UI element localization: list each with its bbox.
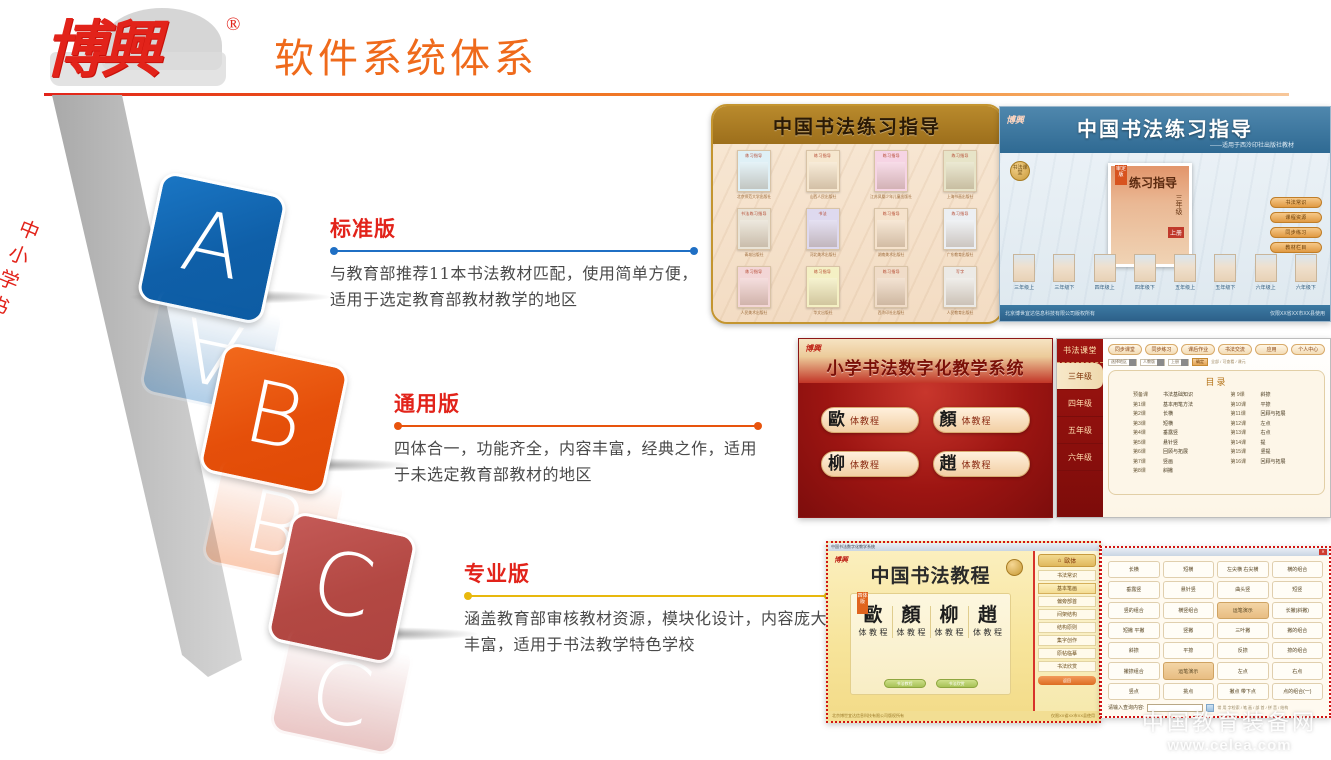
tutorial-title: 中国书法教程 <box>828 551 1033 588</box>
guide-grade-item[interactable]: 六年级下 <box>1295 254 1317 291</box>
toc-card-title: 目录 <box>1115 375 1318 388</box>
guide-grade-item[interactable]: 四年级下 <box>1134 254 1156 291</box>
style-glyph: 趙 <box>940 456 957 473</box>
toc-filter-volume[interactable]: 上册 <box>1168 359 1189 366</box>
toc-lesson-row[interactable]: 第10课平捺 <box>1231 401 1319 408</box>
toc-lesson-number: 第16课 <box>1231 458 1255 465</box>
guide-grade-label: 四年级上 <box>1094 284 1116 291</box>
toc-lesson-name: 竖画 <box>1163 458 1173 465</box>
system-home-style-button[interactable]: 趙体教程 <box>933 451 1031 477</box>
book-cover-art <box>740 220 768 247</box>
stroke-cell[interactable]: 短竖 <box>1272 581 1324 598</box>
book-publisher-label: 湖南美术出版社 <box>878 252 905 258</box>
guide-grade-thumb <box>1255 254 1277 282</box>
toc-lesson-number: 第1课 <box>1133 401 1157 408</box>
book-publisher-label: 山西人民出版社 <box>809 194 836 200</box>
book-cover-title: 书法练习指导 <box>738 211 770 217</box>
chevron-down-icon <box>1129 359 1136 366</box>
guide-grade-item[interactable]: 六年级上 <box>1255 254 1277 291</box>
guide-side-button[interactable]: 教材栏目 <box>1270 242 1322 253</box>
practice-guide-logo: 博興 <box>1006 113 1024 126</box>
tutorial-style-glyph: 顏 <box>893 606 930 626</box>
practice-guide-header: 博興 中国书法练习指导 ——适用于西泠印社出版社教材 <box>1000 107 1330 153</box>
book-cell[interactable]: 练习指导华文出版社 <box>790 266 856 322</box>
toc-lesson-row[interactable]: 第12课左点 <box>1231 420 1319 427</box>
screenshot-table-of-contents[interactable]: 书法课堂 三年级四年级五年级六年级 同步课堂同步练习课后作业书法交流应用个人中心… <box>1056 338 1331 518</box>
book-catalog-header: 中国书法练习指导 <box>713 106 1001 144</box>
brand-logo: 博興 ® <box>44 6 234 92</box>
close-icon[interactable]: ✕ <box>1319 549 1327 555</box>
toc-lesson-number: 预备课 <box>1133 391 1157 398</box>
toc-lesson-number: 第2课 <box>1133 410 1157 417</box>
tutorial-style-label: 体 教 程 <box>969 628 1007 638</box>
book-cover-art <box>740 278 768 305</box>
toc-lesson-name: 斜撇 <box>1163 467 1173 474</box>
toc-lesson-number: 第7课 <box>1133 458 1157 465</box>
book-cover-art <box>946 162 974 189</box>
stroke-cell[interactable]: 三叶撇 <box>1217 622 1269 639</box>
book-cover-title: 练习指导 <box>944 153 976 159</box>
system-home-header: 博興 小学书法数字化教学系统 <box>799 339 1052 383</box>
toc-lesson-number: 第10课 <box>1231 401 1255 408</box>
tutorial-style-item[interactable]: 顏体 教 程 <box>893 606 931 638</box>
tutorial-style-glyph: 趙 <box>969 606 1007 626</box>
book-cell[interactable]: 书法练习指导青岛出版社 <box>721 208 787 264</box>
guide-grade-item[interactable]: 五年级上 <box>1174 254 1196 291</box>
book-cover[interactable]: 练习指导 <box>874 150 908 192</box>
callout-standard-rule <box>330 246 698 256</box>
tutorial-menu-item[interactable]: 书法常识 <box>1038 570 1096 581</box>
book-cover-art <box>877 278 905 305</box>
system-home-button-grid: 歐体教程顏体教程柳体教程趙体教程 <box>799 383 1052 477</box>
toc-lesson-row[interactable]: 第11课回顾与拓展 <box>1231 410 1319 417</box>
guide-side-button[interactable]: 课程资源 <box>1270 212 1322 223</box>
tutorial-menu-item[interactable]: 原帖临摹 <box>1038 648 1096 659</box>
toc-lesson-row[interactable]: 第13课右点 <box>1231 429 1319 436</box>
tutorial-style-label: 体 教 程 <box>893 628 930 638</box>
callout-general: 通用版 四体合一，功能齐全，内容丰富，经典之作，适用于未选定教育部教材的地区 <box>394 388 762 489</box>
toc-lesson-row[interactable]: 第16课回顾与拓展 <box>1231 458 1319 465</box>
toc-grade-item[interactable]: 六年级 <box>1057 444 1103 471</box>
tutorial-menu-item[interactable]: 基本笔画 <box>1038 583 1096 594</box>
screenshot-system-home[interactable]: 博興 小学书法数字化教学系统 歐体教程顏体教程柳体教程趙体教程 <box>798 338 1053 518</box>
book-cell[interactable]: 练习指导上海书画出版社 <box>927 150 993 206</box>
practice-guide-grade-list: 三年级上三年级下四年级上四年级下五年级上五年级下六年级上六年级下 <box>1004 254 1326 291</box>
tutorial-main-area: 博興 中国书法教程 四体版 歐体 教 程顏体 教 程柳体 教 程趙体 教 程 书… <box>828 551 1033 711</box>
book-cover[interactable]: 练习指导 <box>737 150 771 192</box>
callout-general-version: 通用版 <box>394 388 762 418</box>
stroke-cell[interactable]: 撇的组合 <box>1272 622 1324 639</box>
guide-side-button[interactable]: 书法常识 <box>1270 197 1322 208</box>
callout-professional-description: 涵盖教育部审核教材资源，模块化设计，内容庞大丰富，适用于书法教学特色学校 <box>464 606 832 659</box>
toc-lesson-name: 斜捺 <box>1261 391 1271 398</box>
stroke-cell[interactable]: 运笔演示 <box>1217 602 1269 619</box>
tutorial-window-title: 中国书法数字化教学系统 <box>828 543 1099 551</box>
style-label: 体教程 <box>850 458 880 471</box>
system-home-logo: 博興 <box>805 343 821 354</box>
tutorial-back-button[interactable]: 返回 <box>1038 676 1096 685</box>
stroke-cell[interactable]: 竖的组合 <box>1108 602 1160 619</box>
system-home-style-button[interactable]: 顏体教程 <box>933 407 1031 433</box>
book-cover-art <box>809 278 837 305</box>
tutorial-logo: 博興 <box>834 555 848 565</box>
practice-guide-badge: 书法课堂 <box>1010 161 1030 181</box>
toc-lesson-name: 书法基础知识 <box>1163 391 1193 398</box>
book-cover-art <box>946 220 974 247</box>
tutorial-ribbon: 四体版 <box>857 592 868 614</box>
tutorial-sidebar-title: 歐体 <box>1064 556 1076 565</box>
practice-guide-title: 中国书法练习指导 <box>1077 113 1253 142</box>
stroke-index-grid: 长横短横左尖横 右尖横横的组合垂露竖悬针竖曲头竖短竖竖的组合横竖组合运笔演示长撇… <box>1102 556 1329 702</box>
toc-lesson-number: 第3课 <box>1133 420 1157 427</box>
stroke-index-titlebar: ✕ <box>1102 548 1329 556</box>
book-cover-title: 练习指导 <box>807 153 839 159</box>
toc-grade-item[interactable]: 三年级 <box>1057 363 1103 390</box>
book-publisher-label: 人民美术出版社 <box>741 310 768 316</box>
toc-lesson-number: 第4课 <box>1133 429 1157 436</box>
guide-grade-item[interactable]: 五年级下 <box>1214 254 1236 291</box>
stroke-cell[interactable]: 撇捺组合 <box>1108 662 1160 679</box>
toc-filter-region[interactable]: 选择地区 <box>1108 359 1137 366</box>
stroke-cell[interactable]: 点的组合(一) <box>1272 683 1324 700</box>
stroke-cell[interactable]: 短横 <box>1163 561 1215 578</box>
toc-sidebar: 书法课堂 三年级四年级五年级六年级 <box>1057 339 1103 517</box>
toc-filter-volume-label: 上册 <box>1169 359 1181 365</box>
tutorial-pill-button[interactable]: 书法欣赏 <box>936 679 978 688</box>
cover-ribbon: 审定版 <box>1115 165 1127 185</box>
stroke-cell[interactable]: 平捺 <box>1163 642 1215 659</box>
tutorial-menu-item[interactable]: 集字创作 <box>1038 635 1096 646</box>
screenshot-stroke-index[interactable]: ✕ 长横短横左尖横 右尖横横的组合垂露竖悬针竖曲头竖短竖竖的组合横竖组合运笔演示… <box>1100 546 1331 718</box>
book-cell[interactable]: 练习指导湖南美术出版社 <box>859 208 925 264</box>
callout-professional-version: 专业版 <box>464 558 832 588</box>
callout-professional-rule <box>464 591 832 601</box>
tutorial-menu-item[interactable]: 间架结构 <box>1038 609 1096 620</box>
tutorial-menu-item[interactable]: 偏旁部首 <box>1038 596 1096 607</box>
book-cell[interactable]: 练习指导广东教育出版社 <box>927 208 993 264</box>
style-label: 体教程 <box>962 414 992 427</box>
screenshot-calligraphy-tutorial[interactable]: 中国书法数字化教学系统 博興 中国书法教程 四体版 歐体 教 程顏体 教 程柳体… <box>826 541 1101 723</box>
toc-lesson-name: 回顾与拓展 <box>1261 410 1286 417</box>
slide-canvas: 博興 ® 软件系统体系 中小学书法数字化教学系统 A A B B <box>0 0 1331 760</box>
system-home-title: 小学书法数字化教学系统 <box>827 354 1025 379</box>
book-cover-title: 练习指导 <box>738 153 770 159</box>
book-cell[interactable]: 练习指导西泠印社出版社 <box>859 266 925 322</box>
callout-standard-version: 标准版 <box>330 213 698 243</box>
tutorial-style-item[interactable]: 趙体 教 程 <box>969 606 1007 638</box>
stroke-cell[interactable]: 横竖组合 <box>1163 602 1215 619</box>
guide-grade-label: 四年级下 <box>1134 284 1156 291</box>
guide-grade-label: 五年级上 <box>1174 284 1196 291</box>
toc-grade-item[interactable]: 四年级 <box>1057 390 1103 417</box>
toc-lesson-name: 竖提 <box>1261 448 1271 455</box>
toc-tab[interactable]: 同步练习 <box>1145 344 1179 355</box>
stroke-search-label: 请输入查询内容: <box>1108 704 1144 711</box>
search-icon[interactable] <box>1206 704 1214 712</box>
tutorial-menu-item[interactable]: 书法欣赏 <box>1038 661 1096 672</box>
tutorial-footer-left: 北京博世宜达信息科技有限公司版权所有 <box>832 713 904 719</box>
stroke-cell[interactable]: 撇点 带下点 <box>1217 683 1269 700</box>
book-cover-title: 练习指导 <box>738 269 770 275</box>
book-cover[interactable]: 练习指导 <box>874 208 908 250</box>
watermark-line-2: www.celea.com <box>1142 737 1317 754</box>
guide-grade-thumb <box>1174 254 1196 282</box>
toc-lesson-row[interactable]: 第2课长横 <box>1133 410 1221 417</box>
tutorial-style-item[interactable]: 柳体 教 程 <box>931 606 969 638</box>
guide-grade-thumb <box>1013 254 1035 282</box>
toc-lesson-row[interactable]: 第1课基本用笔方法 <box>1133 401 1221 408</box>
system-home-style-button[interactable]: 柳体教程 <box>821 451 919 477</box>
toc-tab[interactable]: 个人中心 <box>1291 344 1325 355</box>
callout-standard: 标准版 与教育部推荐11本书法教材匹配，使用简单方便，适用于选定教育部教材教学的… <box>330 213 698 314</box>
toc-lesson-number: 第 9课 <box>1231 391 1255 398</box>
cover-grade: 三年级 <box>1173 194 1183 215</box>
guide-grade-thumb <box>1094 254 1116 282</box>
book-publisher-label: 北京师范大学出版社 <box>737 194 771 200</box>
toc-filter-bar: 选择地区 人教版 上册 确定 全部 / 可查看 / 课元 <box>1108 358 1325 366</box>
book-publisher-label: 河北美术出版社 <box>809 252 836 258</box>
toc-tab[interactable]: 同步课堂 <box>1108 344 1142 355</box>
book-cover-art <box>877 162 905 189</box>
toc-lesson-row[interactable]: 第6课回顾与拓展 <box>1133 448 1221 455</box>
tutorial-footer-right: 仅限XX省XX市XX县使用 <box>1051 713 1095 719</box>
style-glyph: 顏 <box>940 412 957 429</box>
toc-tab[interactable]: 课后作业 <box>1181 344 1215 355</box>
book-cover-art <box>946 278 974 305</box>
stroke-cell[interactable]: 短撇 平撇 <box>1108 622 1160 639</box>
tutorial-sidebar-header: ⌂ 歐体 <box>1038 554 1096 567</box>
book-cover-art <box>740 162 768 189</box>
toc-lesson-row[interactable]: 第14课提 <box>1231 439 1319 446</box>
practice-guide-body: 书法课堂 审定版 练习指导 三年级 上册 书法常识课程资源同步练习教材栏目 三年… <box>1000 153 1330 305</box>
stroke-cell[interactable]: 垂露竖 <box>1108 581 1160 598</box>
tile-a-letter: A <box>175 197 250 293</box>
stroke-cell[interactable]: 左尖横 右尖横 <box>1217 561 1269 578</box>
toc-tab-bar: 同步课堂同步练习课后作业书法交流应用个人中心 <box>1108 344 1325 355</box>
tutorial-style-card: 四体版 歐体 教 程顏体 教 程柳体 教 程趙体 教 程 书法教程书法欣赏 <box>850 593 1011 695</box>
book-cover[interactable]: 练习指导 <box>806 150 840 192</box>
book-cell[interactable]: 练习指导山西人民出版社 <box>790 150 856 206</box>
stroke-cell[interactable]: 长横 <box>1108 561 1160 578</box>
tutorial-pill-button[interactable]: 书法教程 <box>884 679 926 688</box>
guide-grade-thumb <box>1214 254 1236 282</box>
practice-guide-footer-left: 北京博世宜达信息科技有限公司版权所有 <box>1005 310 1095 317</box>
cover-volume: 上册 <box>1168 227 1184 238</box>
book-cover[interactable]: 练习指导 <box>943 208 977 250</box>
book-cover[interactable]: 练习指导 <box>737 266 771 308</box>
toc-lesson-name: 右点 <box>1261 429 1271 436</box>
book-cell[interactable]: 写字人民教育出版社 <box>927 266 993 322</box>
toc-lesson-number: 第13课 <box>1231 429 1255 436</box>
toc-lesson-name: 长横 <box>1163 410 1173 417</box>
logo-seal-text: 博興 <box>44 10 234 90</box>
book-publisher-label: 人民教育出版社 <box>947 310 974 316</box>
toc-lesson-name: 提 <box>1261 439 1266 446</box>
toc-filter-note: 全部 / 可查看 / 课元 <box>1211 359 1246 365</box>
book-catalog-title: 中国书法练习指导 <box>773 112 941 139</box>
book-cover-art <box>809 220 837 247</box>
book-cover-title: 练习指导 <box>875 211 907 217</box>
practice-guide-subtitle: ——适用于西泠印社出版社教材 <box>1210 140 1294 149</box>
guide-grade-label: 六年级上 <box>1255 284 1277 291</box>
tutorial-style-label: 体 教 程 <box>931 628 968 638</box>
book-cover-title: 书法 <box>807 211 839 217</box>
book-cover-title: 练习指导 <box>875 269 907 275</box>
chevron-down-icon <box>1181 359 1188 366</box>
guide-grade-item[interactable]: 三年级上 <box>1013 254 1035 291</box>
book-cell[interactable]: 练习指导江苏凤凰少年儿童出版社 <box>859 150 925 206</box>
guide-side-button[interactable]: 同步练习 <box>1270 227 1322 238</box>
callout-general-description: 四体合一，功能齐全，内容丰富，经典之作，适用于未选定教育部教材的地区 <box>394 436 762 489</box>
guide-grade-label: 六年级下 <box>1295 284 1317 291</box>
stroke-cell[interactable]: 运笔演示 <box>1163 662 1215 679</box>
book-cover[interactable]: 书法练习指导 <box>737 208 771 250</box>
book-publisher-label: 青岛出版社 <box>744 252 763 258</box>
system-home-style-button[interactable]: 歐体教程 <box>821 407 919 433</box>
book-cell[interactable]: 练习指导北京师范大学出版社 <box>721 150 787 206</box>
toc-lesson-number: 第14课 <box>1231 439 1255 446</box>
toc-lesson-name: 垂露竖 <box>1163 429 1178 436</box>
stroke-cell[interactable]: 曲头竖 <box>1217 581 1269 598</box>
stroke-cell[interactable]: 竖撇 <box>1163 622 1215 639</box>
book-cell[interactable]: 书法河北美术出版社 <box>790 208 856 264</box>
toc-card: 目录 预备课书法基础知识第1课基本用笔方法第2课长横第3课短横第4课垂露竖第5课… <box>1108 370 1325 495</box>
stroke-cell[interactable]: 挑点 <box>1163 683 1215 700</box>
toc-lesson-number: 第5课 <box>1133 439 1157 446</box>
style-label: 体教程 <box>962 458 992 471</box>
tutorial-sidebar: ⌂ 歐体 书法常识基本笔画偏旁部首间架结构结构原则集字创作原帖临摹书法欣赏 返回 <box>1033 551 1099 711</box>
tutorial-menu-item[interactable]: 结构原则 <box>1038 622 1096 633</box>
toc-lesson-row[interactable]: 第15课竖提 <box>1231 448 1319 455</box>
book-cover-title: 练习指导 <box>875 153 907 159</box>
book-cell[interactable]: 练习指导人民美术出版社 <box>721 266 787 322</box>
guide-grade-item[interactable]: 三年级下 <box>1053 254 1075 291</box>
stroke-cell[interactable]: 悬针竖 <box>1163 581 1215 598</box>
book-cover[interactable]: 练习指导 <box>943 150 977 192</box>
guide-grade-thumb <box>1134 254 1156 282</box>
screenshot-book-catalog[interactable]: 中国书法练习指导 练习指导北京师范大学出版社练习指导山西人民出版社练习指导江苏凤… <box>711 104 1003 324</box>
book-cover-title: 写字 <box>944 269 976 275</box>
book-catalog-grid: 练习指导北京师范大学出版社练习指导山西人民出版社练习指导江苏凤凰少年儿童出版社练… <box>713 144 1001 324</box>
registered-mark-icon: ® <box>226 14 240 36</box>
callout-professional: 专业版 涵盖教育部审核教材资源，模块化设计，内容庞大丰富，适用于书法教学特色学校 <box>464 558 832 659</box>
stroke-cell[interactable]: 右点 <box>1272 662 1324 679</box>
guide-grade-thumb <box>1053 254 1075 282</box>
toc-tab[interactable]: 应用 <box>1255 344 1289 355</box>
stroke-cell[interactable]: 左点 <box>1217 662 1269 679</box>
practice-guide-footer-right: 仅限XX省XX市XX县使用 <box>1270 310 1325 317</box>
tutorial-style-glyph: 柳 <box>931 606 968 626</box>
toc-filter-edition-label: 人教版 <box>1141 359 1157 365</box>
book-publisher-label: 江苏凤凰少年儿童出版社 <box>870 194 912 200</box>
toc-lesson-column-left: 预备课书法基础知识第1课基本用笔方法第2课长横第3课短横第4课垂露竖第5课悬针竖… <box>1133 391 1221 477</box>
callout-standard-description: 与教育部推荐11本书法教材匹配，使用简单方便，适用于选定教育部教材教学的地区 <box>330 261 698 314</box>
guide-grade-label: 三年级下 <box>1053 284 1075 291</box>
toc-lesson-number: 第11课 <box>1231 410 1255 417</box>
toc-lesson-name: 回顾与拓展 <box>1163 448 1188 455</box>
toc-main: 同步课堂同步练习课后作业书法交流应用个人中心 选择地区 人教版 上册 确定 全部… <box>1103 339 1330 517</box>
stroke-search-hint: 常 用 字检索 / 笔 画 / 部 首 / 拼 音 / 结构 <box>1217 705 1288 711</box>
toc-lesson-row[interactable]: 第4课垂露竖 <box>1133 429 1221 436</box>
toc-confirm-button[interactable]: 确定 <box>1192 358 1208 366</box>
callout-general-rule <box>394 421 762 431</box>
style-glyph: 歐 <box>828 412 845 429</box>
tile-c-letter: C <box>304 537 381 634</box>
style-label: 体教程 <box>850 414 880 427</box>
tutorial-style-list: 歐体 教 程顏体 教 程柳体 教 程趙体 教 程 <box>851 594 1010 638</box>
book-cover-art <box>809 162 837 189</box>
book-publisher-label: 华文出版社 <box>813 310 832 316</box>
tutorial-footer: 北京博世宜达信息科技有限公司版权所有 仅限XX省XX市XX县使用 <box>828 711 1099 721</box>
tutorial-pill-buttons: 书法教程书法欣赏 <box>851 679 1010 688</box>
guide-grade-item[interactable]: 四年级上 <box>1094 254 1116 291</box>
cover-title: 练习指导 <box>1129 174 1177 191</box>
book-cover-title: 练习指导 <box>807 269 839 275</box>
toc-filter-edition[interactable]: 人教版 <box>1140 359 1165 366</box>
screenshot-practice-guide[interactable]: 博興 中国书法练习指导 ——适用于西泠印社出版社教材 书法课堂 审定版 练习指导… <box>999 106 1331 322</box>
stroke-search-input[interactable] <box>1147 704 1203 712</box>
toc-lesson-number: 第12课 <box>1231 420 1255 427</box>
toc-lesson-number: 第15课 <box>1231 448 1255 455</box>
tutorial-seal-icon <box>1006 559 1023 576</box>
practice-guide-book-cover[interactable]: 审定版 练习指导 三年级 上册 <box>1108 163 1192 267</box>
tile-b-letter: B <box>238 368 311 464</box>
stroke-cell[interactable]: 捺的组合 <box>1272 642 1324 659</box>
toc-lesson-column-right: 第 9课斜捺第10课平捺第11课回顾与拓展第12课左点第13课右点第14课提第1… <box>1231 391 1319 477</box>
toc-lesson-name: 平捺 <box>1261 401 1271 408</box>
toc-lesson-name: 回顾与拓展 <box>1261 458 1286 465</box>
toc-grade-item[interactable]: 五年级 <box>1057 417 1103 444</box>
toc-sidebar-title: 书法课堂 <box>1057 339 1103 363</box>
toc-lesson-row[interactable]: 第 9课斜捺 <box>1231 391 1319 398</box>
guide-grade-thumb <box>1295 254 1317 282</box>
toc-lesson-number: 第6课 <box>1133 448 1157 455</box>
book-cover-title: 练习指导 <box>944 211 976 217</box>
stroke-cell[interactable]: 斜捺 <box>1108 642 1160 659</box>
book-cover[interactable]: 练习指导 <box>806 266 840 308</box>
toc-lesson-name: 短横 <box>1163 420 1173 427</box>
toc-lesson-name: 左点 <box>1261 420 1271 427</box>
stroke-index-search-bar: 请输入查询内容: 常 用 字检索 / 笔 画 / 部 首 / 拼 音 / 结构 <box>1102 702 1329 716</box>
stroke-cell[interactable]: 横的组合 <box>1272 561 1324 578</box>
toc-filter-region-label: 选择地区 <box>1109 359 1129 365</box>
page-title: 软件系统体系 <box>274 26 538 84</box>
toc-lesson-number: 第8课 <box>1133 467 1157 474</box>
book-cover[interactable]: 书法 <box>806 208 840 250</box>
stroke-cell[interactable]: 长撇(斜撇) <box>1272 602 1324 619</box>
book-publisher-label: 广东教育出版社 <box>947 252 974 258</box>
toc-lesson-row[interactable]: 第5课悬针竖 <box>1133 439 1221 446</box>
toc-lesson-name: 悬针竖 <box>1163 439 1178 446</box>
toc-tab[interactable]: 书法交流 <box>1218 344 1252 355</box>
toc-lesson-row[interactable]: 第7课竖画 <box>1133 458 1221 465</box>
home-icon: ⌂ <box>1058 558 1062 564</box>
stroke-cell[interactable]: 竖点 <box>1108 683 1160 700</box>
toc-lesson-row[interactable]: 第8课斜撇 <box>1133 467 1221 474</box>
toc-lesson-name: 基本用笔方法 <box>1163 401 1193 408</box>
book-cover[interactable]: 练习指导 <box>874 266 908 308</box>
tutorial-style-label: 体 教 程 <box>855 628 892 638</box>
book-publisher-label: 西泠印社出版社 <box>878 310 905 316</box>
stroke-cell[interactable]: 反捺 <box>1217 642 1269 659</box>
style-glyph: 柳 <box>828 456 845 473</box>
toc-lesson-row[interactable]: 预备课书法基础知识 <box>1133 391 1221 398</box>
book-cover[interactable]: 写字 <box>943 266 977 308</box>
toc-lesson-row[interactable]: 第3课短横 <box>1133 420 1221 427</box>
practice-guide-footer: 北京博世宜达信息科技有限公司版权所有 仅限XX省XX市XX县使用 <box>1000 305 1330 321</box>
guide-grade-label: 三年级上 <box>1013 284 1035 291</box>
book-publisher-label: 上海书画出版社 <box>947 194 974 200</box>
